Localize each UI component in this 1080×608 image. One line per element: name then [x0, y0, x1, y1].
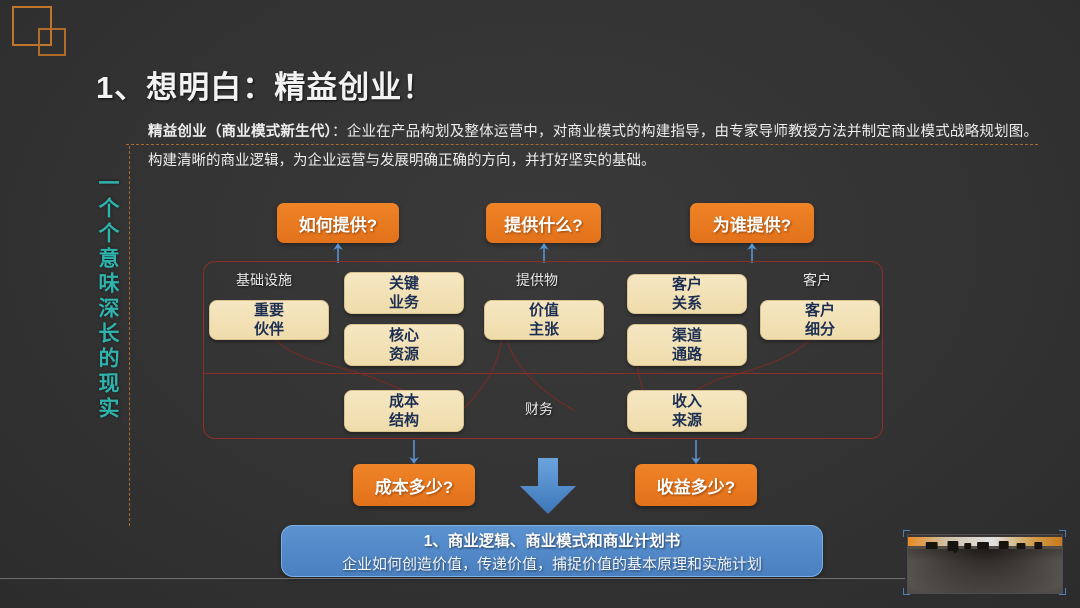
- card-cost-structure-line2: 结构: [389, 411, 419, 430]
- description-lead: 精益创业（商业模式新生代）: [148, 124, 332, 140]
- card-cost-structure[interactable]: 成本 结构: [344, 390, 464, 432]
- vertical-dashed-rule: [129, 146, 130, 526]
- card-key-partners-line2: 伙伴: [254, 320, 284, 339]
- thumbnail-handle-top-right[interactable]: [1059, 530, 1066, 537]
- card-value-proposition[interactable]: 价值 主张: [484, 300, 604, 340]
- question-pill-how-much-cost[interactable]: 成本多少?: [353, 464, 475, 506]
- card-key-resources-line2: 资源: [389, 345, 419, 364]
- vertical-caption: 一个个意味深长的现实: [88, 172, 122, 422]
- card-revenue-streams-line1: 收入: [672, 392, 702, 411]
- arrow-up-right: [745, 243, 759, 263]
- card-value-proposition-line2: 主张: [529, 320, 559, 339]
- card-key-activities-line1: 关键: [389, 274, 419, 293]
- card-channels-line1: 渠道: [672, 326, 702, 345]
- question-pill-how-to-deliver[interactable]: 如何提供?: [277, 203, 399, 243]
- slide-canvas: 1、想明白：精益创业！ 精益创业（商业模式新生代）：企业在产品构划及整体运营中，…: [0, 0, 1080, 608]
- card-key-activities[interactable]: 关键 业务: [344, 272, 464, 314]
- presenter-thumbnail: [907, 534, 1063, 594]
- summary-banner-title: 1、商业逻辑、商业模式和商业计划书: [424, 529, 681, 551]
- decorative-square-small: [38, 28, 66, 56]
- card-key-activities-line2: 业务: [389, 293, 419, 312]
- card-cost-structure-line1: 成本: [389, 392, 419, 411]
- arrow-up-left: [331, 243, 345, 263]
- card-customer-segments-line1: 客户: [805, 301, 835, 320]
- card-value-proposition-line1: 价值: [529, 301, 559, 320]
- arrow-down-right: [689, 440, 703, 464]
- card-customer-segments-line2: 细分: [805, 320, 835, 339]
- card-key-partners-line1: 重要: [254, 301, 284, 320]
- card-channels[interactable]: 渠道 通路: [627, 324, 747, 366]
- page-title: 1、想明白：精益创业！: [96, 62, 434, 107]
- big-down-arrow-icon: [516, 458, 580, 514]
- card-key-resources[interactable]: 核心 资源: [344, 324, 464, 366]
- arrow-up-middle: [537, 243, 551, 263]
- card-key-partners[interactable]: 重要 伙伴: [209, 300, 329, 340]
- thumbnail-handle-top-left[interactable]: [903, 530, 910, 537]
- group-label-customer: 客户: [803, 270, 831, 290]
- group-label-infrastructure: 基础设施: [236, 270, 292, 290]
- thumbnail-handle-bottom-right[interactable]: [1059, 588, 1066, 595]
- question-pill-what-to-offer[interactable]: 提供什么?: [486, 203, 601, 243]
- card-customer-relationships[interactable]: 客户 关系: [627, 274, 747, 314]
- bottom-divider-line: [0, 578, 905, 579]
- question-pill-how-much-revenue[interactable]: 收益多少?: [635, 464, 757, 506]
- arrow-down-left: [407, 440, 421, 464]
- description-paragraph: 精益创业（商业模式新生代）：企业在产品构划及整体运营中，对商业模式的构建指导，由…: [148, 118, 1038, 176]
- card-customer-relationships-line2: 关系: [672, 294, 702, 313]
- card-key-resources-line1: 核心: [389, 326, 419, 345]
- thumbnail-handle-bottom-left[interactable]: [903, 588, 910, 595]
- question-pill-for-whom[interactable]: 为谁提供?: [690, 203, 814, 243]
- card-customer-relationships-line1: 客户: [672, 275, 702, 294]
- card-revenue-streams[interactable]: 收入 来源: [627, 390, 747, 432]
- card-channels-line2: 通路: [672, 345, 702, 364]
- card-customer-segments[interactable]: 客户 细分: [760, 300, 880, 340]
- thumbnail-vignette: [907, 549, 1063, 594]
- summary-banner[interactable]: 1、商业逻辑、商业模式和商业计划书 企业如何创造价值，传递价值，捕捉价值的基本原…: [281, 525, 823, 577]
- summary-banner-subtitle: 企业如何创造价值，传递价值，捕捉价值的基本原理和实施计划: [342, 553, 762, 574]
- group-label-finance: 财务: [525, 399, 553, 419]
- card-revenue-streams-line2: 来源: [672, 411, 702, 430]
- group-label-offering: 提供物: [516, 270, 558, 290]
